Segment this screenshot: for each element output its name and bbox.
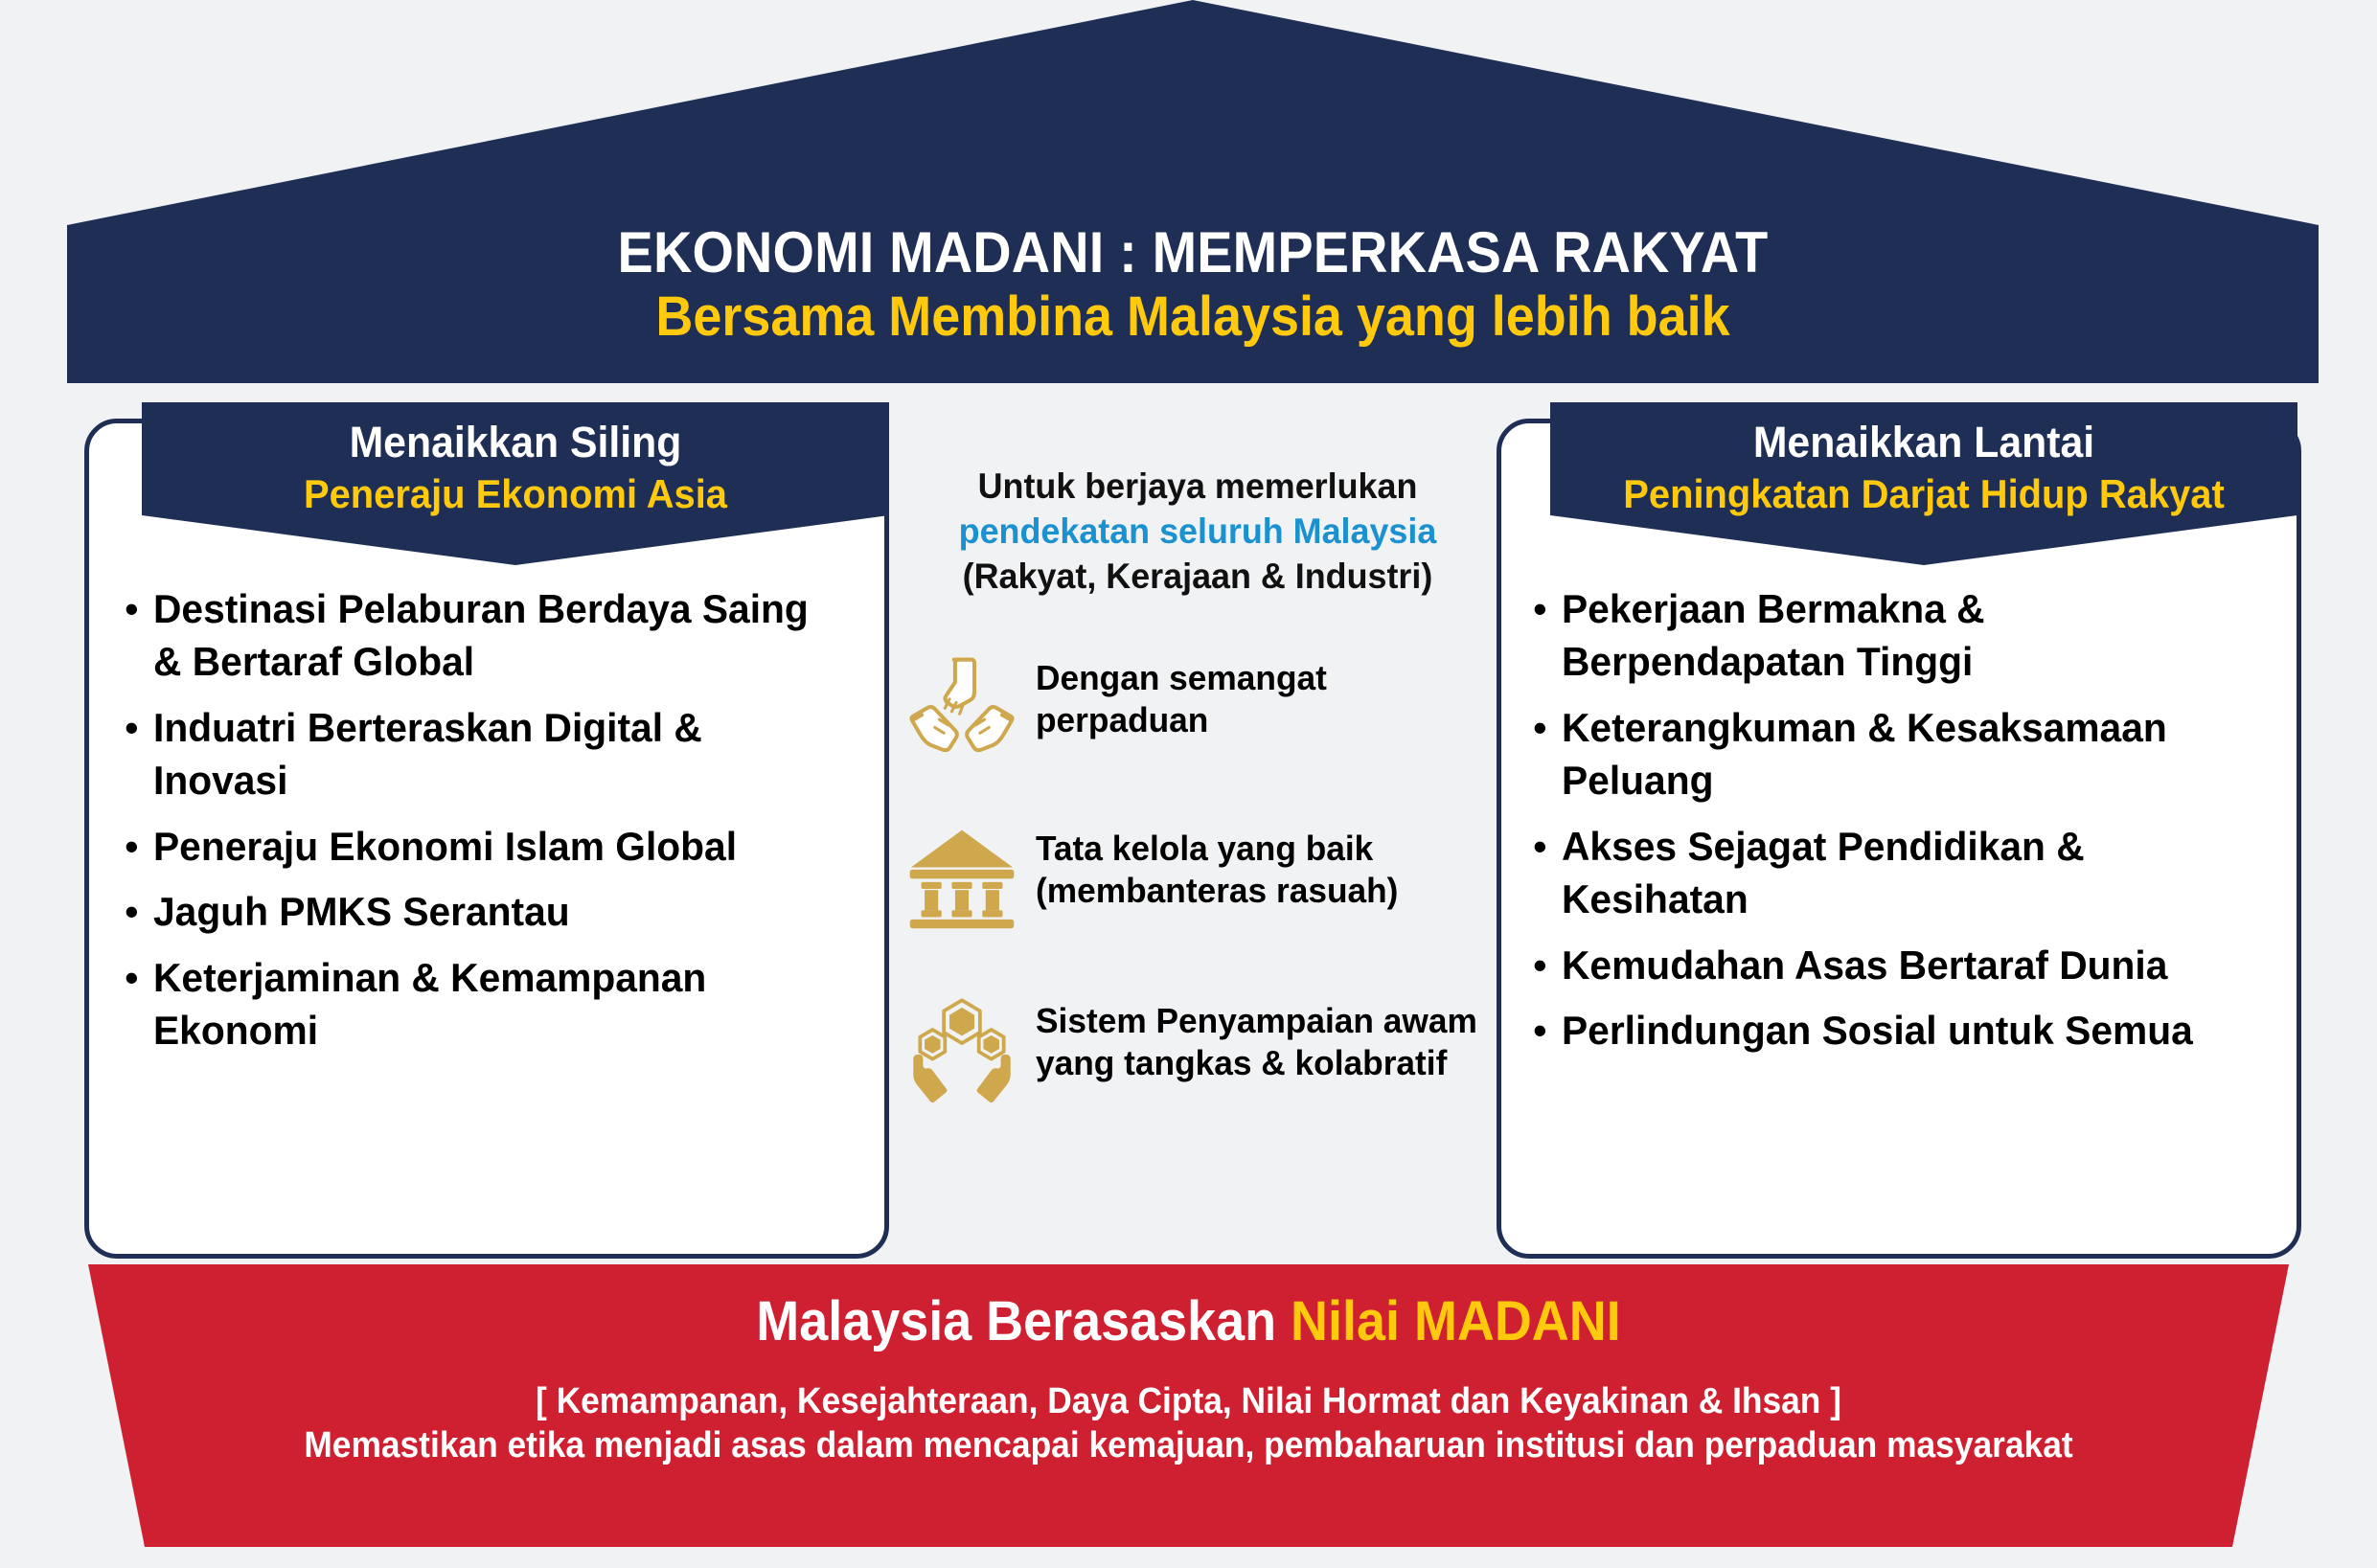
bullet-icon: • (125, 951, 153, 1004)
list-item: • Jaguh PMKS Serantau (125, 885, 853, 938)
right-banner-text: Menaikkan Lantai Peningkatan Darjat Hidu… (1550, 418, 2297, 517)
list-item-label: Keterangkuman & Kesaksamaan Peluang (1562, 701, 2240, 807)
center-column: Untuk berjaya memerlukan pendekatan selu… (905, 465, 1490, 1105)
base-title: Malaysia Berasaskan Nilai MADANI (83, 1291, 2294, 1352)
left-banner: Menaikkan Siling Peneraju Ekonomi Asia (142, 402, 889, 565)
center-feature-label: Dengan semangat perpaduan (1036, 649, 1481, 741)
roof-shape: EKONOMI MADANI : MEMPERKASA RAKYAT Bersa… (67, 0, 2319, 383)
right-banner-subtitle: Peningkatan Darjat Hidup Rakyat (1569, 470, 2279, 518)
list-item-label: Jaguh PMKS Serantau (153, 885, 832, 938)
left-banner-text: Menaikkan Siling Peneraju Ekonomi Asia (142, 418, 889, 517)
center-feature-label: Tata kelola yang baik (membanteras rasua… (1036, 820, 1481, 912)
list-item-label: Kemudahan Asas Bertaraf Dunia (1562, 939, 2240, 991)
list-item: • Kemudahan Asas Bertaraf Dunia (1533, 939, 2261, 991)
base-title-highlight: Nilai MADANI (1291, 1290, 1621, 1352)
center-intro-line-3: (Rakyat, Kerajaan & Industri) (963, 557, 1433, 596)
right-banner: Menaikkan Lantai Peningkatan Darjat Hidu… (1550, 402, 2297, 565)
list-item-label: Akses Sejagat Pendidikan & Kesihatan (1562, 820, 2240, 926)
left-bullet-list: • Destinasi Pelaburan Berdaya Saing & Be… (125, 582, 853, 1070)
joined-hands-icon (905, 649, 1018, 762)
center-feature: Sistem Penyampaian awam yang tangkas & k… (905, 992, 1490, 1105)
base-values-line: [ Kemampanan, Kesejahteraan, Daya Cipta,… (83, 1379, 2294, 1423)
center-feature: Dengan semangat perpaduan (905, 649, 1490, 762)
list-item-label: Induatri Berteraskan Digital & Inovasi (153, 701, 832, 807)
bullet-icon: • (1533, 820, 1562, 873)
base-title-plain: Malaysia Berasaskan (756, 1290, 1291, 1352)
bullet-icon: • (1533, 1004, 1562, 1057)
foundation-base: Malaysia Berasaskan Nilai MADANI [ Kemam… (0, 1264, 2377, 1568)
center-intro-highlight: pendekatan seluruh Malaysia (959, 511, 1437, 551)
list-item: • Induatri Berteraskan Digital & Inovasi (125, 701, 853, 807)
left-banner-title: Menaikkan Siling (161, 418, 871, 467)
list-item: • Keterjaminan & Kemampanan Ekonomi (125, 951, 853, 1057)
bullet-icon: • (1533, 582, 1562, 635)
list-item-label: Pekerjaan Bermakna & Berpendapatan Tingg… (1562, 582, 2240, 689)
right-banner-title: Menaikkan Lantai (1569, 418, 2279, 467)
list-item: • Pekerjaan Bermakna & Berpendapatan Tin… (1533, 582, 2261, 689)
list-item: • Peneraju Ekonomi Islam Global (125, 820, 853, 873)
bullet-icon: • (125, 582, 153, 635)
list-item: • Destinasi Pelaburan Berdaya Saing & Be… (125, 582, 853, 689)
bullet-icon: • (125, 885, 153, 938)
list-item-label: Keterjaminan & Kemampanan Ekonomi (153, 951, 832, 1057)
base-text-block: Malaysia Berasaskan Nilai MADANI [ Kemam… (0, 1291, 2377, 1468)
list-item: • Perlindungan Sosial untuk Semua (1533, 1004, 2261, 1057)
list-item-label: Destinasi Pelaburan Berdaya Saing & Bert… (153, 582, 832, 689)
center-feature: Tata kelola yang baik (membanteras rasua… (905, 820, 1490, 933)
left-banner-subtitle: Peneraju Ekonomi Asia (161, 470, 871, 518)
list-item-label: Peneraju Ekonomi Islam Global (153, 820, 832, 873)
center-intro-line-1: Untuk berjaya memerlukan (978, 466, 1418, 506)
government-building-icon (905, 820, 1018, 933)
center-intro-text: Untuk berjaya memerlukan pendekatan selu… (914, 465, 1481, 600)
bullet-icon: • (125, 701, 153, 754)
hands-holding-hexagons-icon (905, 992, 1018, 1105)
bullet-icon: • (1533, 701, 1562, 754)
bullet-icon: • (1533, 939, 1562, 991)
infographic-root: EKONOMI MADANI : MEMPERKASA RAKYAT Bersa… (0, 0, 2377, 1568)
list-item: • Keterangkuman & Kesaksamaan Peluang (1533, 701, 2261, 807)
base-description-line: Memastikan etika menjadi asas dalam menc… (83, 1423, 2294, 1467)
list-item-label: Perlindungan Sosial untuk Semua (1562, 1004, 2240, 1057)
center-feature-label: Sistem Penyampaian awam yang tangkas & k… (1036, 992, 1481, 1084)
list-item: • Akses Sejagat Pendidikan & Kesihatan (1533, 820, 2261, 926)
bullet-icon: • (125, 820, 153, 873)
right-bullet-list: • Pekerjaan Bermakna & Berpendapatan Tin… (1533, 582, 2261, 1070)
